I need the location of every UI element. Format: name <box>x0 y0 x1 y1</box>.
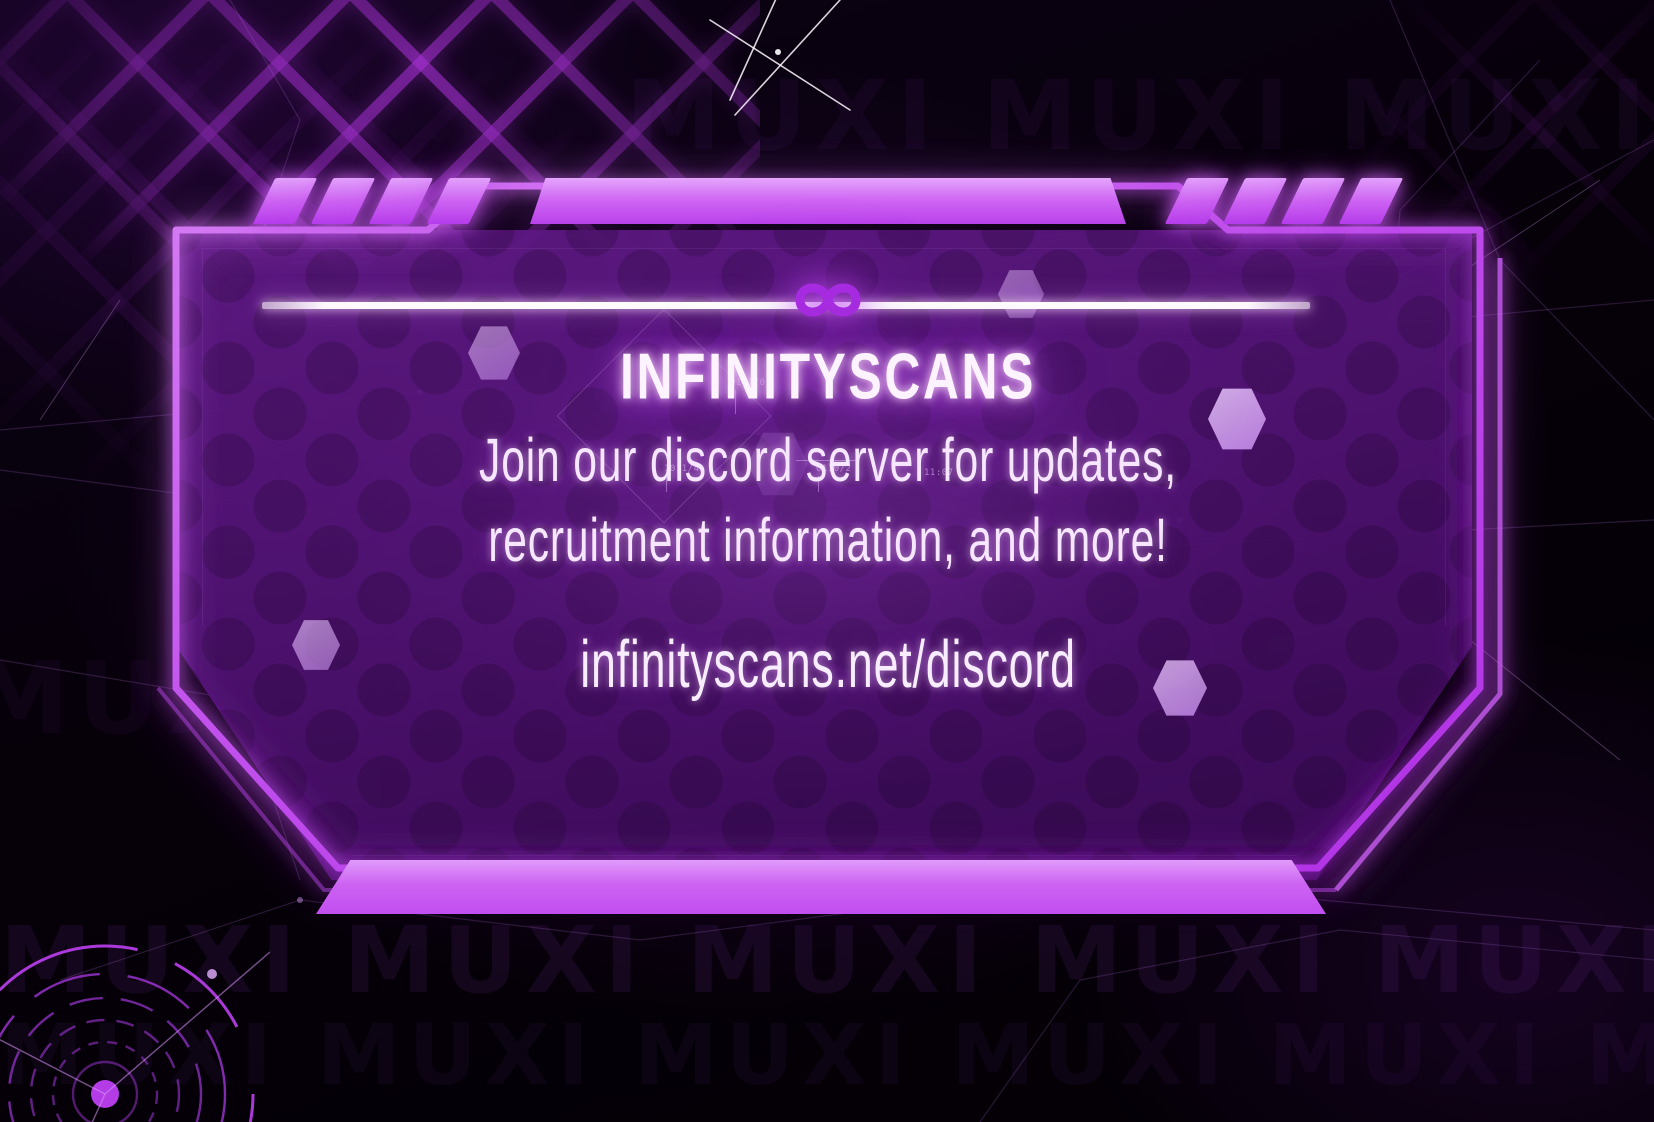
diagonal-slash-icon <box>311 178 375 224</box>
bottom-accent-bar <box>316 860 1326 914</box>
diagonal-slash-icon <box>1281 178 1345 224</box>
tagline: Join our discord server for updates, rec… <box>287 422 1369 582</box>
banner-content: INFINITYSCANS Join our discord server fo… <box>168 348 1488 696</box>
infinity-icon <box>768 264 888 336</box>
tagline-line-1: Join our discord server for updates, <box>287 422 1369 502</box>
tagline-line-2: recruitment information, and more! <box>287 502 1369 582</box>
diagonal-slash-icon <box>1223 178 1287 224</box>
main-panel: 0101/0 1011/4 0110/2 11:07 INFINITYSCANS… <box>168 168 1488 908</box>
top-accent-bar <box>530 178 1126 224</box>
banner-canvas: MUXI MUXI MUXI MUXI MUXI MUXI MUXI MUXI … <box>0 0 1654 1122</box>
diagonal-slash-icon <box>369 178 433 224</box>
slash-group-right <box>1176 178 1392 224</box>
discord-url[interactable]: infinityscans.net/discord <box>300 625 1356 703</box>
page-title: INFINITYSCANS <box>260 345 1395 410</box>
slash-group-left <box>264 178 480 224</box>
